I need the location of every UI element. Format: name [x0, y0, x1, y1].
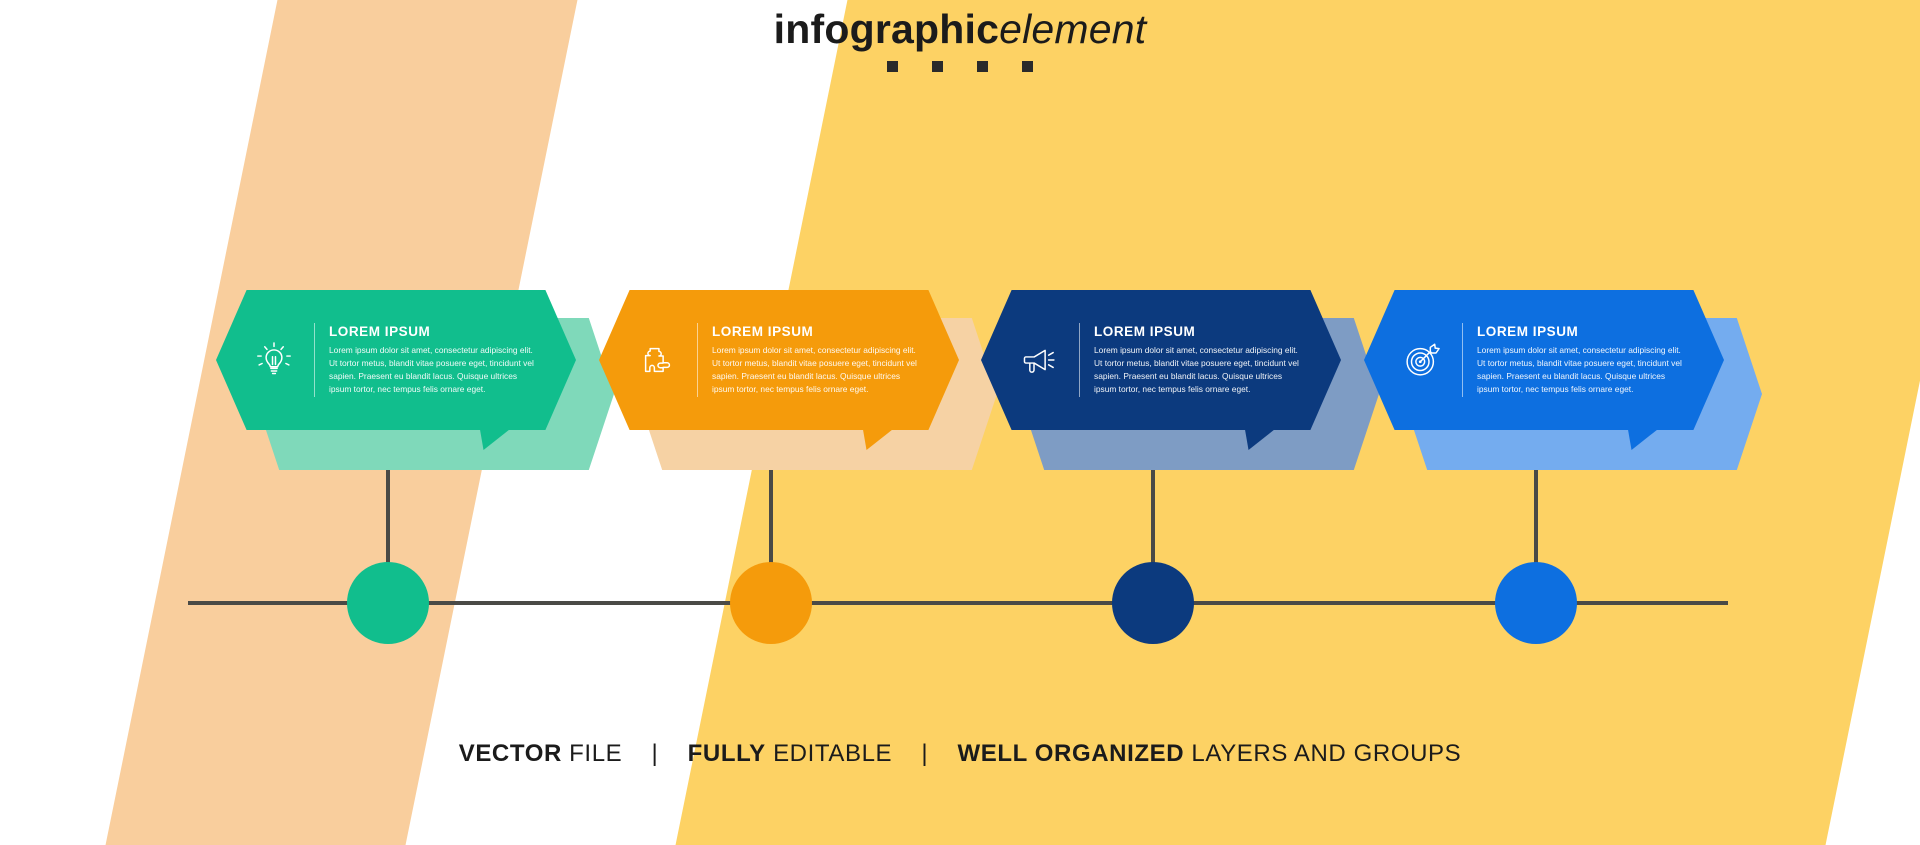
footer-separator: |	[652, 740, 659, 767]
card-text-block: LOREM IPSUM Lorem ipsum dolor sit amet, …	[1094, 324, 1315, 395]
title-dot	[932, 61, 943, 72]
title-italic-word: element	[999, 6, 1146, 52]
card-title: LOREM IPSUM	[712, 324, 917, 339]
infographic-canvas: infographicelement	[0, 0, 1920, 845]
card-text-block: LOREM IPSUM Lorem ipsum dolor sit amet, …	[329, 324, 550, 395]
timeline-dot-4[interactable]	[1495, 562, 1577, 644]
card-title: LOREM IPSUM	[1094, 324, 1299, 339]
title-dot	[1022, 61, 1033, 72]
footer-fully-normal: EDITABLE	[766, 740, 892, 767]
card-body-shape: LOREM IPSUM Lorem ipsum dolor sit amet, …	[981, 290, 1341, 430]
card-body-shape: LOREM IPSUM Lorem ipsum dolor sit amet, …	[599, 290, 959, 430]
card-divider	[1079, 323, 1080, 397]
card-divider	[314, 323, 315, 397]
card-body-shape: LOREM IPSUM Lorem ipsum dolor sit amet, …	[1364, 290, 1724, 430]
title-bold-word: infographic	[774, 6, 999, 52]
card-title: LOREM IPSUM	[329, 324, 534, 339]
puzzle-piece-icon	[619, 339, 695, 381]
timeline-dot-1[interactable]	[347, 562, 429, 644]
timeline-dot-3[interactable]	[1112, 562, 1194, 644]
title-dot	[977, 61, 988, 72]
card-title: LOREM IPSUM	[1477, 324, 1682, 339]
footer-vector-bold: VECTOR	[459, 740, 562, 767]
footer-well-normal: LAYERS AND GROUPS	[1184, 740, 1461, 767]
card-text-block: LOREM IPSUM Lorem ipsum dolor sit amet, …	[1477, 324, 1698, 395]
card-text-block: LOREM IPSUM Lorem ipsum dolor sit amet, …	[712, 324, 933, 395]
page-title: infographicelement	[0, 8, 1920, 72]
step-card-2[interactable]: LOREM IPSUM Lorem ipsum dolor sit amet, …	[599, 290, 1019, 470]
title-dot	[887, 61, 898, 72]
footer-separator: |	[921, 740, 928, 767]
footer-caption: VECTOR FILE | FULLY EDITABLE | WELL ORGA…	[0, 740, 1920, 768]
megaphone-icon	[1001, 339, 1077, 381]
footer-vector-normal: FILE	[562, 740, 622, 767]
card-description: Lorem ipsum dolor sit amet, consectetur …	[1094, 344, 1299, 395]
card-divider	[1462, 323, 1463, 397]
card-description: Lorem ipsum dolor sit amet, consectetur …	[1477, 344, 1682, 395]
card-divider	[697, 323, 698, 397]
step-card-1[interactable]: LOREM IPSUM Lorem ipsum dolor sit amet, …	[216, 290, 636, 470]
card-body-shape: LOREM IPSUM Lorem ipsum dolor sit amet, …	[216, 290, 576, 430]
title-dots	[0, 61, 1920, 72]
step-card-3[interactable]: LOREM IPSUM Lorem ipsum dolor sit amet, …	[981, 290, 1401, 470]
title-text: infographicelement	[0, 8, 1920, 51]
card-description: Lorem ipsum dolor sit amet, consectetur …	[712, 344, 917, 395]
card-description: Lorem ipsum dolor sit amet, consectetur …	[329, 344, 534, 395]
footer-fully-bold: FULLY	[688, 740, 766, 767]
lightbulb-icon	[236, 339, 312, 381]
target-icon	[1384, 339, 1460, 381]
footer-well-bold: WELL ORGANIZED	[958, 740, 1185, 767]
step-card-4[interactable]: LOREM IPSUM Lorem ipsum dolor sit amet, …	[1364, 290, 1784, 470]
timeline-dot-2[interactable]	[730, 562, 812, 644]
